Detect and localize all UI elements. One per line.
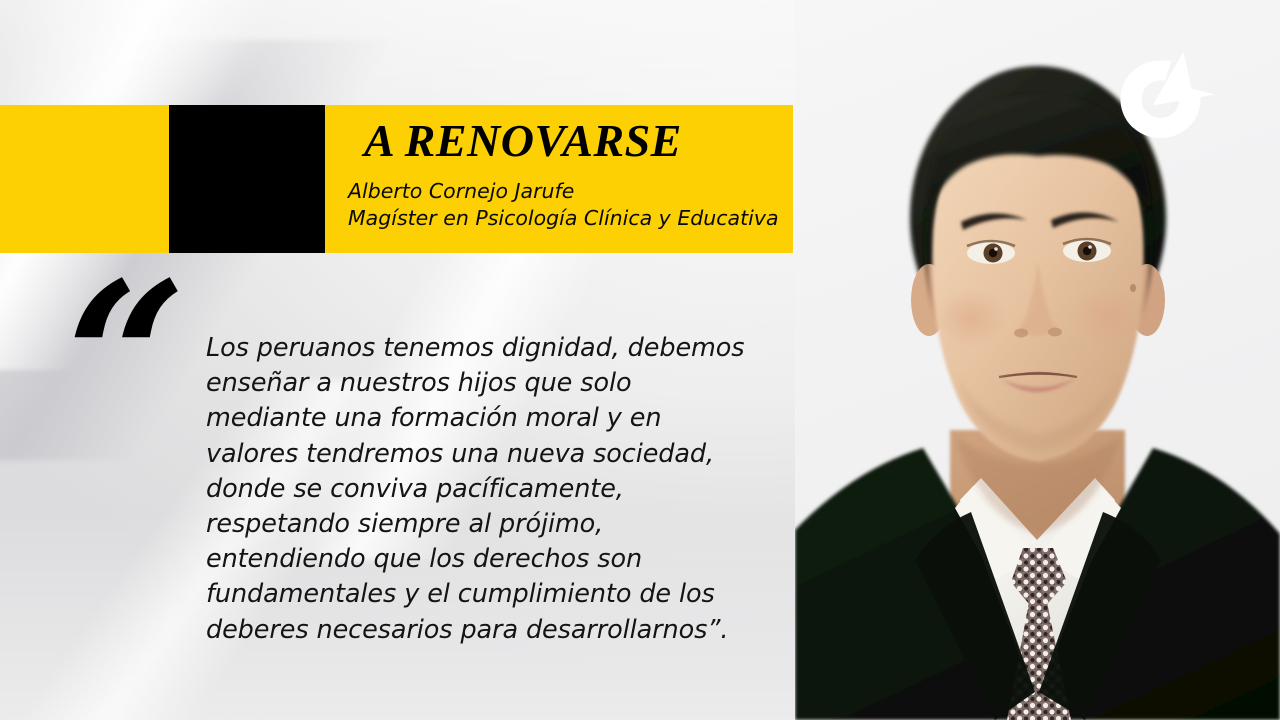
author-name: Alberto Cornejo Jarufe — [348, 178, 779, 205]
quote-line: deberes necesarios para desarrollarnos”. — [206, 613, 786, 648]
quote-line: fundamentales y el cumplimiento de los — [206, 577, 786, 612]
page-title: A RENOVARSE — [364, 118, 682, 164]
quote-text: Los peruanos tenemos dignidad, debemos e… — [206, 331, 786, 648]
quote-line: mediante una formación moral y en — [206, 401, 786, 436]
title-banner-text-area: A RENOVARSE Alberto Cornejo Jarufe Magís… — [345, 105, 795, 253]
circular-arrow-logo-icon — [1105, 44, 1215, 154]
title-banner-black-block — [169, 105, 325, 253]
author-credential: Magíster en Psicología Clínica y Educati… — [348, 205, 779, 232]
quote-line: donde se conviva pacíficamente, — [206, 472, 786, 507]
quote-line: Los peruanos tenemos dignidad, debemos — [206, 331, 786, 366]
byline: Alberto Cornejo Jarufe Magíster en Psico… — [348, 178, 779, 232]
poster-canvas: A RENOVARSE Alberto Cornejo Jarufe Magís… — [0, 0, 1280, 720]
quote-line: entendiendo que los derechos son — [206, 542, 786, 577]
quote-line: respetando siempre al prójimo, — [206, 507, 786, 542]
quotation-mark-icon: “ — [66, 255, 181, 465]
quote-line: valores tendremos una nueva sociedad, — [206, 437, 786, 472]
quote-line: enseñar a nuestros hijos que solo — [206, 366, 786, 401]
